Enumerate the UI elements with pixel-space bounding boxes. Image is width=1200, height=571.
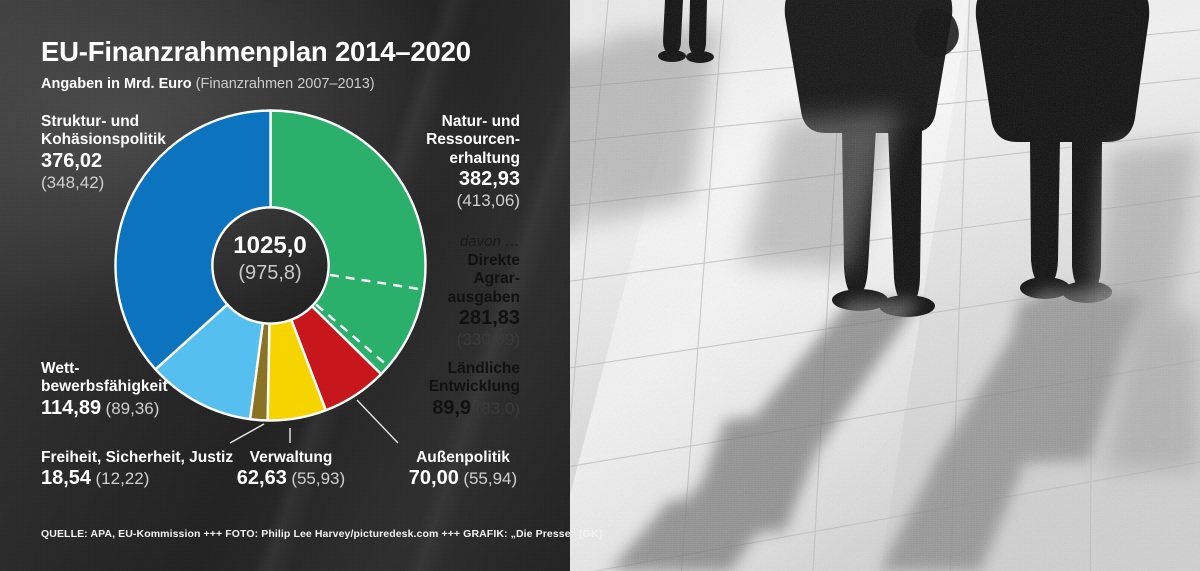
label-laendliche-entwicklung: Ländliche Entwicklung 89,9 (83,0) bbox=[390, 360, 520, 420]
label-wettbewerbsfaehigkeit: Wett- bewerbsfähigkeit 114,89 (89,36) bbox=[41, 360, 168, 420]
photo-illustration bbox=[550, 0, 1200, 571]
label-struktur-previous: (348,42) bbox=[41, 173, 104, 192]
label-aussen-value: 70,00 bbox=[409, 467, 459, 489]
label-natur-line3: erhaltung bbox=[395, 150, 520, 168]
label-verwaltung-value: 62,63 bbox=[237, 467, 287, 489]
label-natur-line2: Ressourcen- bbox=[395, 131, 520, 149]
source-footer: QUELLE: APA, EU-Kommission +++ FOTO: Phi… bbox=[41, 528, 602, 540]
label-laendlich-line2: Entwicklung bbox=[390, 378, 520, 396]
label-laendlich-value: 89,9 bbox=[432, 397, 471, 419]
label-agrar-previous: (330,09) bbox=[457, 330, 520, 349]
label-struktur-line2: Kohäsionspolitik bbox=[41, 131, 166, 149]
label-struktur-line1: Struktur- und bbox=[41, 113, 166, 131]
label-natur-ressourcenerhaltung: Natur- und Ressourcen- erhaltung 382,93 … bbox=[395, 113, 520, 212]
label-agrar-line3: ausgaben bbox=[395, 289, 520, 307]
label-laendlich-previous: (83,0) bbox=[476, 399, 520, 418]
label-verwaltung-line1: Verwaltung bbox=[232, 449, 350, 467]
label-verwaltung-previous: (55,93) bbox=[291, 469, 345, 488]
label-wettbewerb-line1: Wett- bbox=[41, 360, 168, 378]
label-freiheit-line1: Freiheit, Sicherheit, Justiz bbox=[41, 449, 233, 467]
label-natur-previous: (413,06) bbox=[457, 191, 520, 210]
label-wettbewerb-value: 114,89 bbox=[41, 397, 101, 419]
label-freiheit-previous: (12,22) bbox=[96, 469, 150, 488]
label-freiheit-sicherheit-justiz: Freiheit, Sicherheit, Justiz 18,54 (12,2… bbox=[41, 449, 233, 491]
label-aussen-previous: (55,94) bbox=[463, 469, 517, 488]
label-natur-value: 382,93 bbox=[459, 168, 520, 190]
label-direkte-agrarausgaben: Direkte Agrar- ausgaben 281,83 (330,09) bbox=[395, 252, 520, 351]
label-wettbewerb-previous: (89,36) bbox=[106, 399, 160, 418]
label-agrar-value: 281,83 bbox=[459, 307, 520, 329]
label-davon-text: davon … bbox=[395, 233, 520, 251]
label-laendlich-line1: Ländliche bbox=[390, 360, 520, 378]
label-verwaltung: Verwaltung 62,63 (55,93) bbox=[232, 449, 350, 491]
label-struktur-kohaesionspolitik: Struktur- und Kohäsionspolitik 376,02 (3… bbox=[41, 113, 166, 194]
label-aussen-line1: Außenpolitik bbox=[398, 449, 528, 467]
label-agrar-line1: Direkte bbox=[395, 252, 520, 270]
label-wettbewerb-line2: bewerbsfähigkeit bbox=[41, 378, 168, 396]
background-photo bbox=[550, 0, 1200, 571]
subtitle-unit: Angaben in Mrd. Euro bbox=[41, 76, 192, 92]
label-struktur-value: 376,02 bbox=[41, 150, 102, 172]
subtitle-period: (Finanzrahmen 2007–2013) bbox=[196, 76, 375, 92]
infographic-page: EU-Finanzrahmenplan 2014–2020 Angaben in… bbox=[0, 0, 1200, 571]
label-aussenpolitik: Außenpolitik 70,00 (55,94) bbox=[398, 449, 528, 491]
page-subtitle: Angaben in Mrd. Euro (Finanzrahmen 2007–… bbox=[41, 76, 375, 92]
label-freiheit-value: 18,54 bbox=[41, 467, 91, 489]
label-davon: davon … bbox=[395, 233, 520, 251]
label-agrar-line2: Agrar- bbox=[395, 270, 520, 288]
label-natur-line1: Natur- und bbox=[395, 113, 520, 131]
page-title: EU-Finanzrahmenplan 2014–2020 bbox=[41, 36, 471, 68]
